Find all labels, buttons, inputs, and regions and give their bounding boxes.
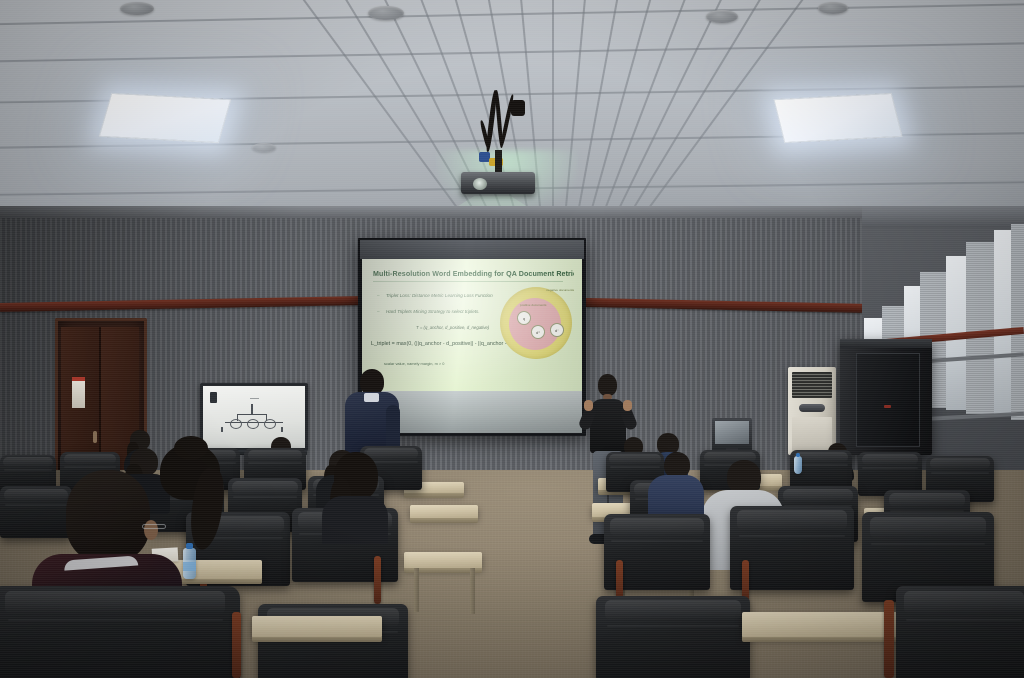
- whiteboard-magnet-icon: [210, 392, 217, 403]
- window-blind: [966, 242, 994, 414]
- venn-point-negative-label: d⁻: [555, 328, 559, 333]
- chair-armrest: [374, 556, 381, 604]
- slide-title-underline: [373, 281, 563, 282]
- desk-leg: [414, 568, 419, 612]
- air-conditioner: [788, 367, 836, 455]
- ceiling-speaker-icon: [120, 2, 154, 15]
- desk: [404, 552, 482, 569]
- cabinet-top: [840, 339, 932, 348]
- screen-top-band: [360, 240, 584, 259]
- ceiling-light-left: [99, 93, 232, 143]
- chair[interactable]: [896, 586, 1024, 678]
- cabinet-door[interactable]: [856, 353, 920, 447]
- slide-title: Multi-Resolution Word Embedding for QA D…: [373, 270, 574, 278]
- desk: [410, 505, 478, 519]
- venn-outer-label: negative documents: [546, 288, 574, 292]
- window-blind: [1011, 224, 1024, 420]
- ceiling-speaker-icon: [368, 6, 404, 20]
- foreground-attendee-ponytail: [130, 444, 240, 564]
- cabinet-indicator-light: [884, 405, 891, 408]
- venn-point-anchor-label: q: [523, 316, 525, 321]
- projector-cables: [477, 90, 533, 176]
- desk: [252, 616, 382, 638]
- venn-inner-label: positive documents: [520, 303, 546, 307]
- hair-bun-icon: [174, 436, 208, 460]
- door-notice-sign: [72, 377, 85, 408]
- water-bottle: [794, 456, 802, 474]
- chair-armrest: [884, 600, 894, 678]
- slide-bullet-2: Hard Triplets Mining Strategy to select …: [386, 309, 480, 314]
- projector-lens-icon: [473, 178, 487, 190]
- ac-control-badge: [799, 404, 825, 412]
- foreground-torso: [322, 496, 388, 544]
- presenter-hand-right: [623, 400, 632, 411]
- presenter-hand-left: [584, 400, 593, 411]
- slide-formula-set: T = (q_anchor, d_positive, d_negative): [416, 325, 489, 330]
- ceiling-vent-icon: [252, 143, 276, 152]
- venn-point-negative: d⁻: [550, 323, 564, 337]
- venn-point-positive-label: d⁺: [536, 330, 540, 335]
- venn-point-anchor: q: [517, 311, 531, 325]
- ceiling-speaker-icon: [706, 10, 738, 23]
- desk-leg: [470, 568, 475, 614]
- standing-attendee-collar: [364, 393, 379, 402]
- presenter-head: [598, 374, 617, 396]
- lecture-hall-photo: Multi-Resolution Word Embedding for QA D…: [0, 0, 1024, 678]
- audience-head: [727, 460, 761, 494]
- ac-grille-icon: [792, 372, 832, 398]
- door-handle-icon[interactable]: [93, 431, 97, 443]
- slide-bullet-1: Triplet Loss: Distance Metric Learning L…: [386, 293, 493, 298]
- monitor-screen: [715, 421, 749, 444]
- window-header-beam: [862, 206, 1024, 228]
- chair[interactable]: [596, 596, 750, 678]
- ceiling-light-right: [773, 93, 902, 143]
- ceiling-speaker-icon: [818, 2, 848, 14]
- chair[interactable]: [0, 586, 240, 678]
- window-pane: [994, 230, 1011, 416]
- chair-armrest: [232, 612, 241, 678]
- equipment-cabinet: [840, 339, 932, 455]
- venn-point-positive: d⁺: [531, 325, 545, 339]
- ceiling-projector: [455, 92, 555, 204]
- desktop-monitor: [712, 418, 752, 452]
- triplet-embedding-venn: q d⁺ d⁻ negative documents positive docu…: [500, 287, 572, 359]
- foreground-attendee-right: [316, 452, 392, 544]
- bottle-cap-icon: [796, 453, 800, 457]
- slide-note: scalar value, namely margin, m > 0: [384, 361, 444, 366]
